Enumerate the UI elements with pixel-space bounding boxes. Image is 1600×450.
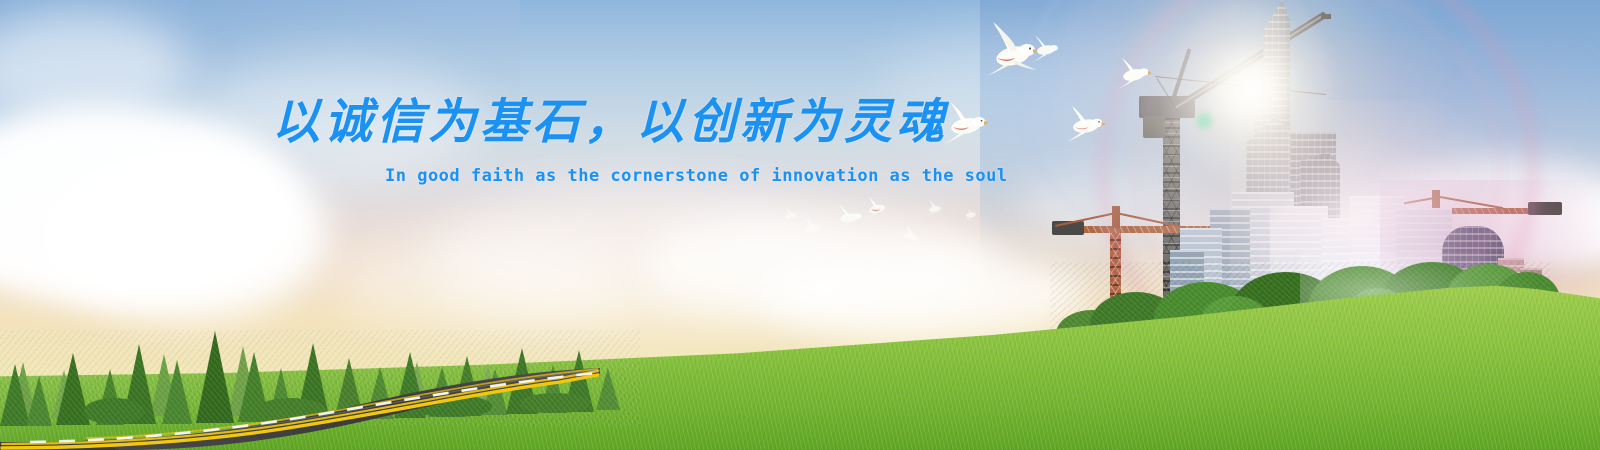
lens-flare-dot — [1196, 113, 1212, 129]
winding-road — [0, 330, 720, 450]
dove-small — [862, 196, 892, 220]
dove-small — [800, 218, 826, 238]
dove — [1030, 34, 1064, 64]
dove — [1062, 104, 1110, 146]
hero-banner: 以诚信为基石，以创新为灵魂 In good faith as the corne… — [0, 0, 1600, 450]
dove-small — [924, 200, 946, 217]
road-svg — [0, 330, 720, 450]
page-subtitle: In good faith as the cornerstone of inno… — [385, 166, 1008, 186]
dove-small — [898, 226, 924, 246]
dove-small — [832, 204, 866, 230]
dove — [1114, 56, 1156, 92]
page-title: 以诚信为基石，以创新为灵魂 — [272, 98, 948, 146]
dove-small — [780, 206, 802, 224]
dove-small — [962, 208, 980, 222]
